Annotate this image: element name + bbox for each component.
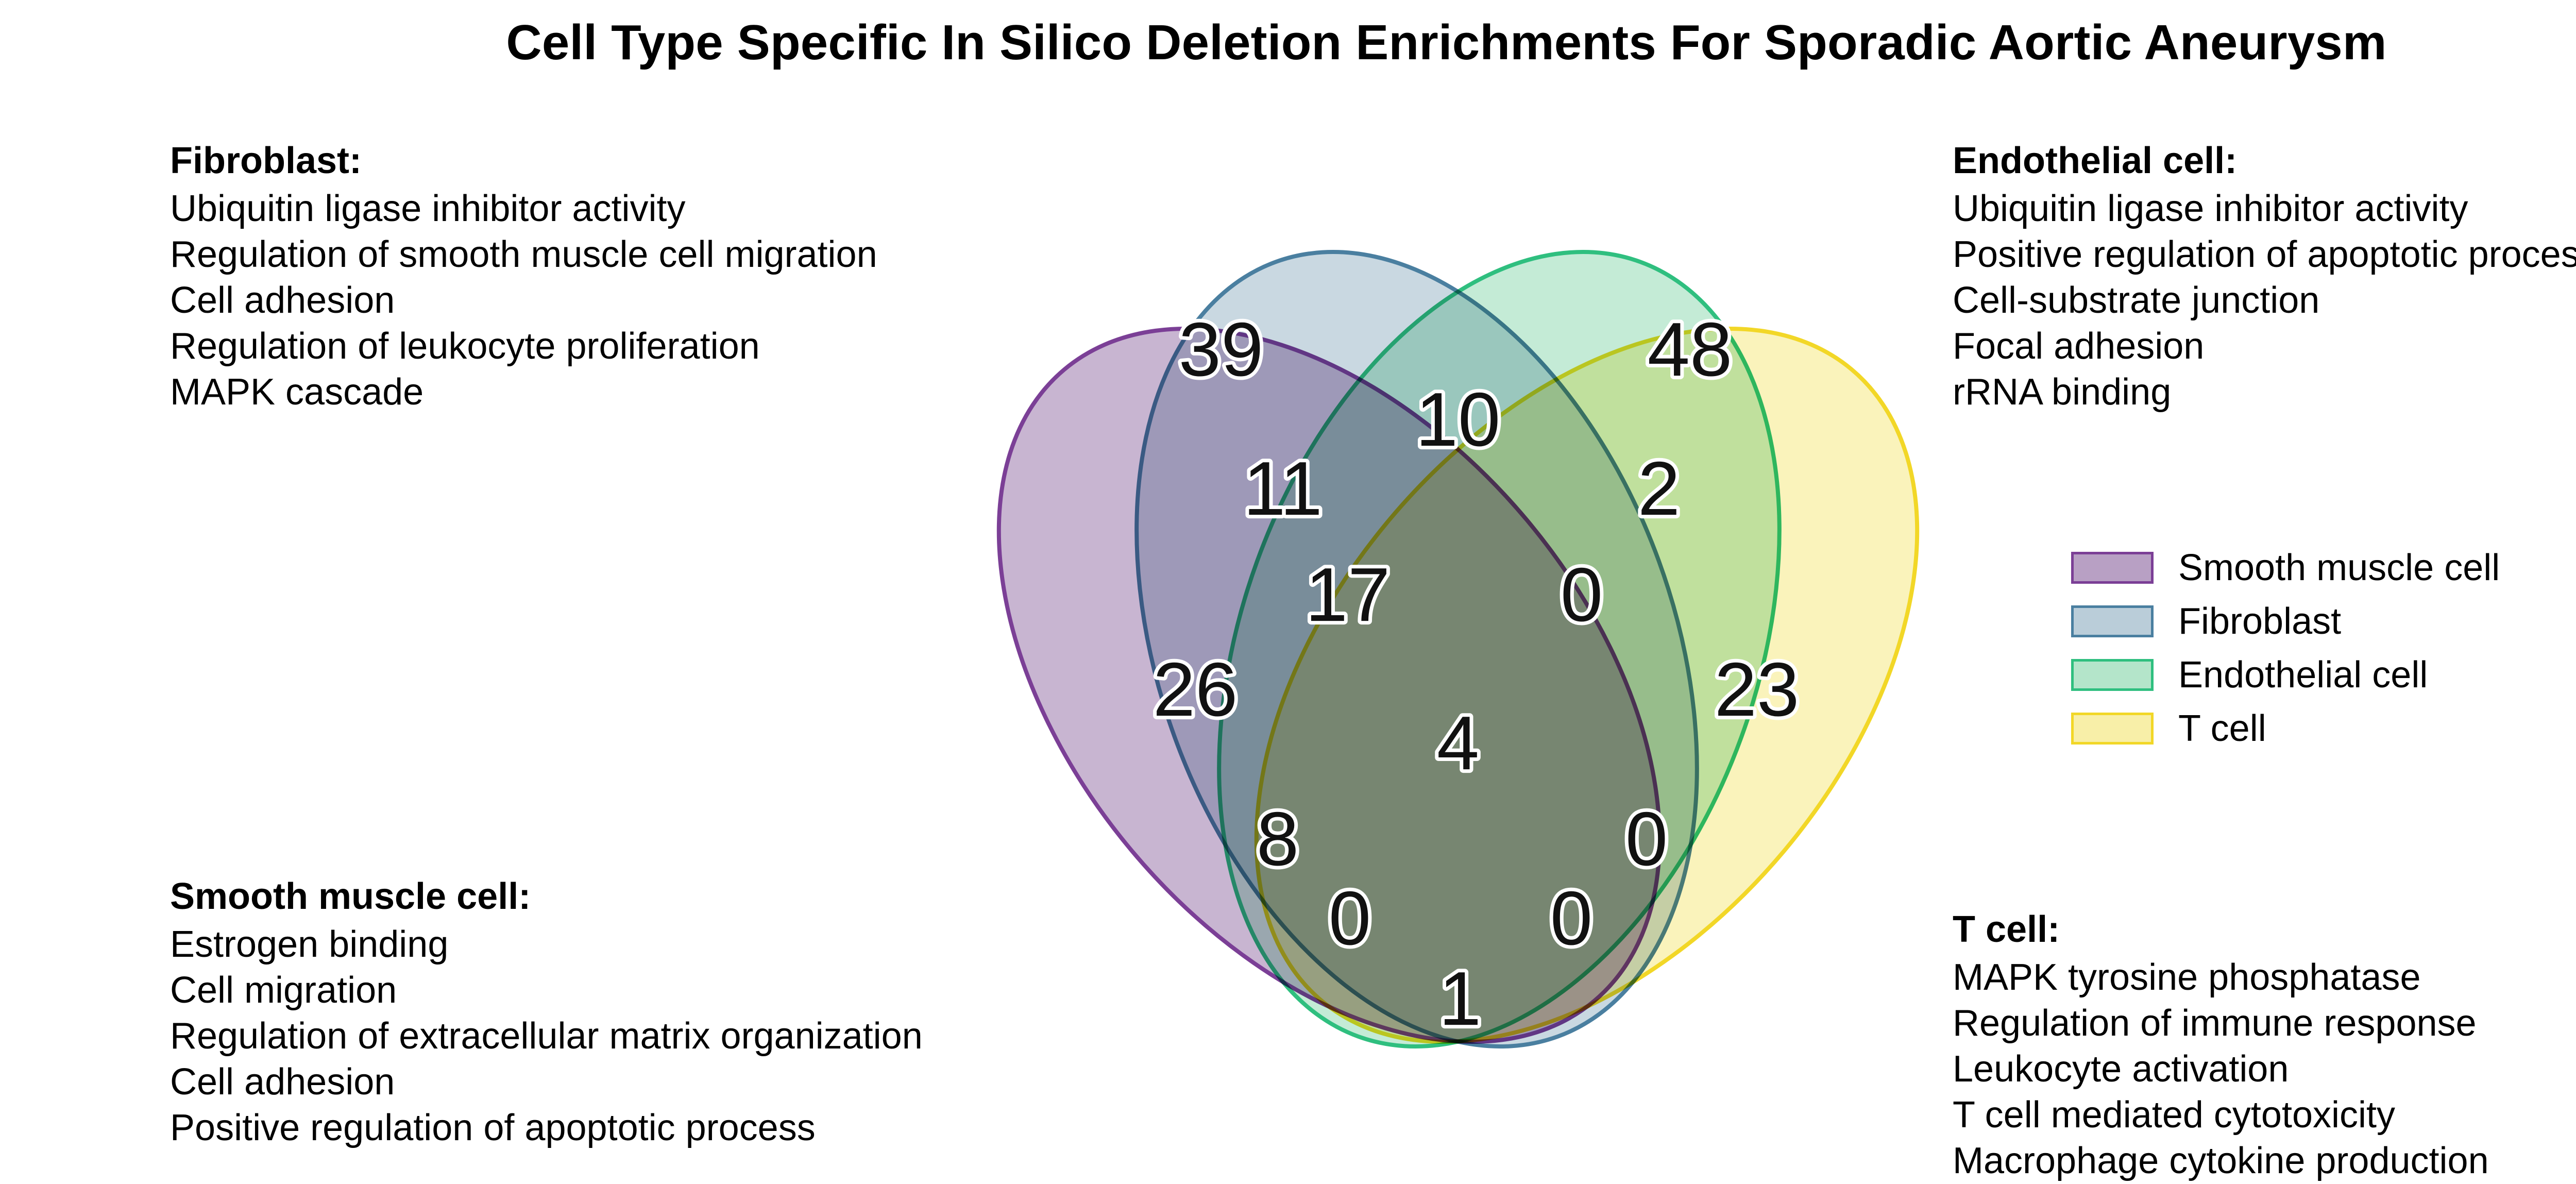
annotation-item: Regulation of leukocyte proliferation: [170, 324, 877, 369]
legend-item-smooth-muscle-cell[interactable]: Smooth muscle cell: [2071, 541, 2576, 595]
venn-count-fibroblast-endothelial-t-cell: 0: [1561, 552, 1603, 637]
annotation-item: Macrophage cytokine production: [1953, 1138, 2489, 1184]
legend-label-fibroblast: Fibroblast: [2178, 600, 2341, 642]
annotation-item: Regulation of extracellular matrix organ…: [170, 1013, 923, 1059]
venn-count-smooth-endothelial: 8: [1257, 797, 1299, 882]
legend-label-endothelial-cell: Endothelial cell: [2178, 654, 2428, 696]
legend-swatch-smooth-muscle-cell: [2071, 552, 2154, 584]
venn-count-fibroblast-endothelial: 10: [1416, 377, 1501, 462]
venn-count-smooth-fibroblast-t-cell: 0: [1329, 876, 1371, 961]
annotation-item: Cell adhesion: [170, 278, 877, 324]
legend: Smooth muscle cell Fibroblast Endothelia…: [2071, 541, 2576, 755]
annotation-heading-endothelial-cell: Endothelial cell:: [1953, 138, 2576, 184]
legend-label-t-cell: T cell: [2178, 707, 2266, 750]
venn-diagram: 26 39 48 23 11 10 2 17 0 4 8 0 0 0 1: [845, 242, 2071, 1128]
legend-swatch-endothelial-cell: [2071, 659, 2154, 691]
annotation-block-fibroblast: Fibroblast: Ubiquitin ligase inhibitor a…: [170, 138, 877, 415]
venn-count-smooth-endothelial-t-cell: 0: [1550, 876, 1592, 961]
legend-swatch-fibroblast: [2071, 605, 2154, 637]
venn-count-smooth-fibroblast: 11: [1243, 446, 1323, 531]
legend-item-t-cell[interactable]: T cell: [2071, 702, 2576, 755]
annotation-item: Regulation of smooth muscle cell migrati…: [170, 232, 877, 278]
venn-count-smooth-muscle-only: 26: [1153, 647, 1238, 732]
annotation-item: MAPK cascade: [170, 369, 877, 415]
venn-count-endothelial-t-cell: 2: [1638, 446, 1680, 531]
venn-count-smooth-fibroblast-endothelial: 17: [1306, 552, 1391, 637]
annotation-heading-smooth-muscle-cell: Smooth muscle cell:: [170, 874, 923, 920]
venn-count-fibroblast-only: 39: [1179, 307, 1264, 392]
venn-count-t-cell-only: 23: [1715, 647, 1800, 732]
annotation-item: Cell adhesion: [170, 1059, 923, 1105]
annotation-item: Ubiquitin ligase inhibitor activity: [1953, 186, 2576, 232]
legend-swatch-t-cell: [2071, 713, 2154, 745]
venn-count-endothelial-only: 48: [1648, 307, 1733, 392]
page-title: Cell Type Specific In Silico Deletion En…: [0, 14, 2576, 71]
venn-count-all-four: 4: [1437, 701, 1479, 786]
venn-count-fibroblast-t-cell: 0: [1625, 797, 1668, 882]
annotation-heading-fibroblast: Fibroblast:: [170, 138, 877, 184]
legend-label-smooth-muscle-cell: Smooth muscle cell: [2178, 547, 2500, 589]
venn-count-smooth-t-cell: 1: [1439, 956, 1481, 1041]
annotation-item: Cell migration: [170, 968, 923, 1013]
annotation-item: Ubiquitin ligase inhibitor activity: [170, 186, 877, 232]
annotation-block-smooth-muscle-cell: Smooth muscle cell: Estrogen binding Cel…: [170, 874, 923, 1151]
legend-item-endothelial-cell[interactable]: Endothelial cell: [2071, 648, 2576, 702]
annotation-item: Estrogen binding: [170, 922, 923, 968]
annotation-item: Positive regulation of apoptotic process: [170, 1105, 923, 1151]
legend-item-fibroblast[interactable]: Fibroblast: [2071, 595, 2576, 648]
